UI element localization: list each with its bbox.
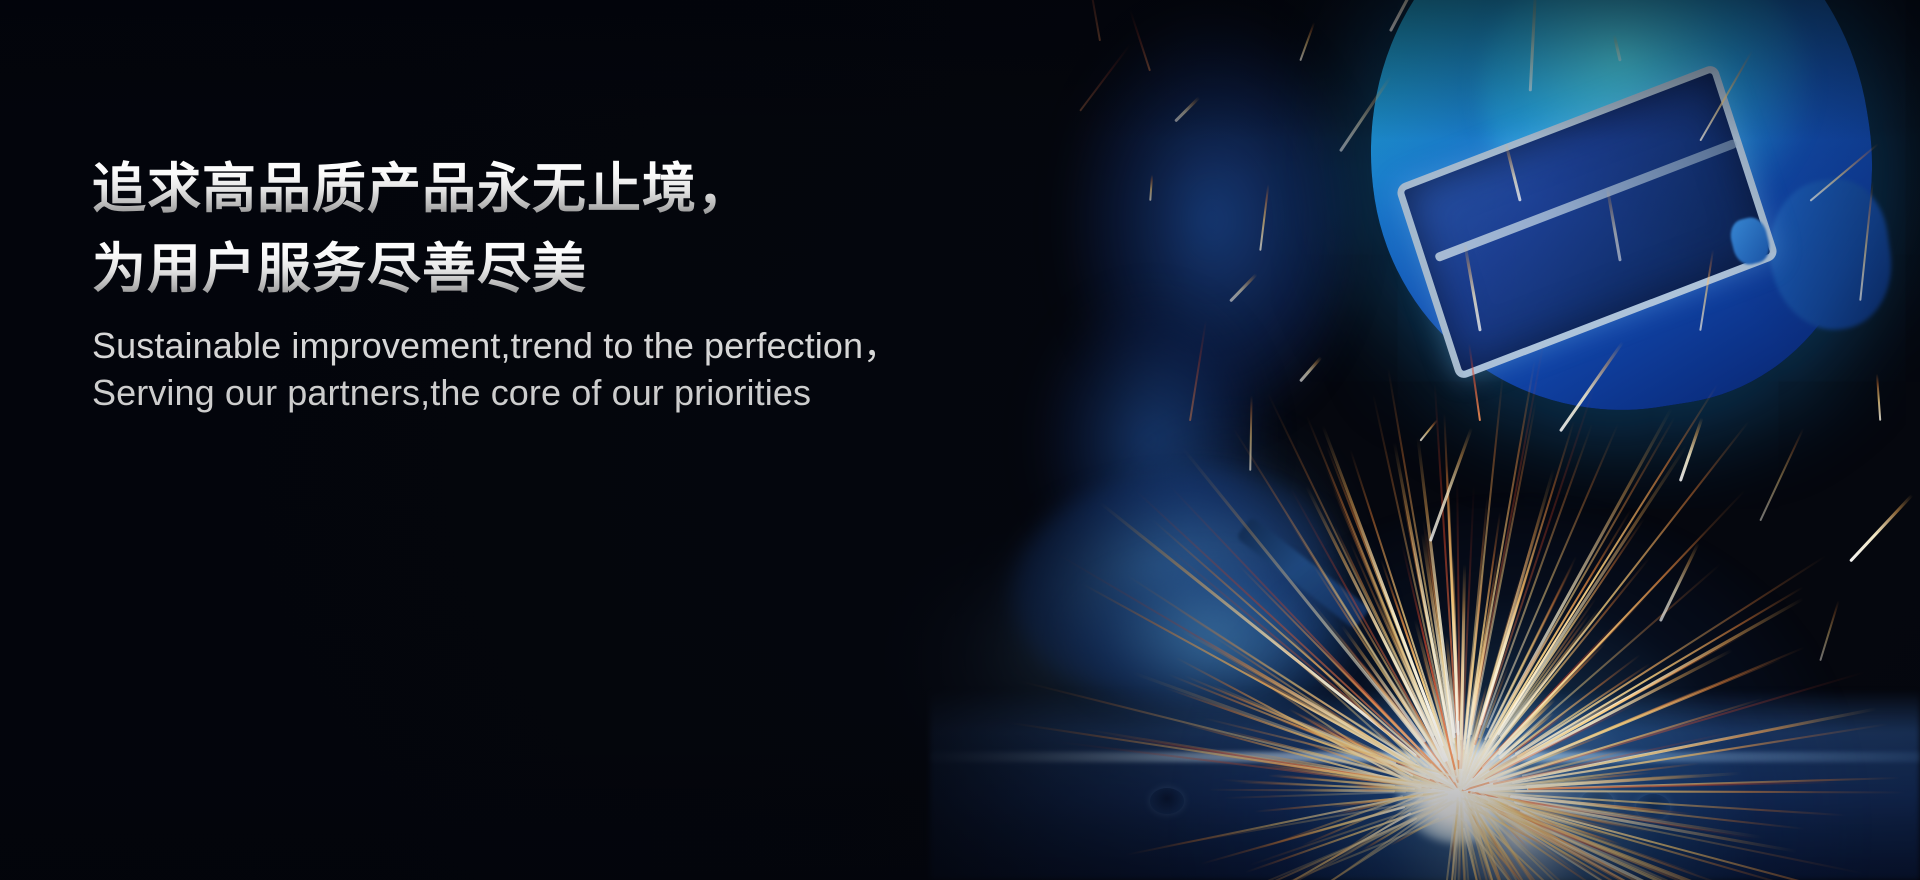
spark xyxy=(1259,184,1269,251)
spark xyxy=(1759,428,1803,521)
spark xyxy=(1559,341,1624,432)
spark xyxy=(1229,273,1257,302)
spark xyxy=(1149,175,1152,201)
spark xyxy=(1389,0,1444,32)
spark xyxy=(1419,419,1437,441)
stray-sparks xyxy=(0,0,1920,880)
subtitle-line-2: Serving our partners,the core of our pri… xyxy=(92,369,1092,416)
spark xyxy=(1859,181,1873,300)
hero-banner: 追求高品质产品永无止境， 为用户服务尽善尽美 Sustainable impro… xyxy=(0,0,1920,880)
spark xyxy=(1679,417,1703,481)
spark xyxy=(1819,600,1839,661)
spark xyxy=(1613,35,1622,62)
spark xyxy=(1810,143,1879,201)
spark xyxy=(1429,427,1473,542)
spark xyxy=(1849,494,1913,562)
spark xyxy=(1339,75,1392,152)
spark xyxy=(1299,356,1322,382)
spark xyxy=(1463,243,1481,331)
headline-line-1: 追求高品质产品永无止境， xyxy=(92,150,1092,228)
spark xyxy=(1699,250,1713,331)
spark xyxy=(1174,96,1200,122)
spark xyxy=(1606,186,1622,261)
welding-photo-background xyxy=(0,0,1920,880)
banner-copy: 追求高品质产品永无止境， 为用户服务尽善尽美 Sustainable impro… xyxy=(92,150,1092,416)
spark xyxy=(1468,344,1481,422)
headline-line-2: 为用户服务尽善尽美 xyxy=(92,230,1092,308)
spark xyxy=(1249,396,1252,471)
spark xyxy=(1189,320,1207,421)
spark xyxy=(1079,43,1131,111)
subtitle-line-1: Sustainable improvement,trend to the per… xyxy=(92,322,1092,369)
spark xyxy=(1876,374,1881,421)
spark xyxy=(1129,10,1151,71)
spark xyxy=(1529,0,1537,91)
spark xyxy=(1083,0,1101,41)
spark xyxy=(1659,543,1699,622)
spark xyxy=(1299,22,1314,61)
spark xyxy=(1504,143,1521,202)
spark xyxy=(1699,50,1752,141)
